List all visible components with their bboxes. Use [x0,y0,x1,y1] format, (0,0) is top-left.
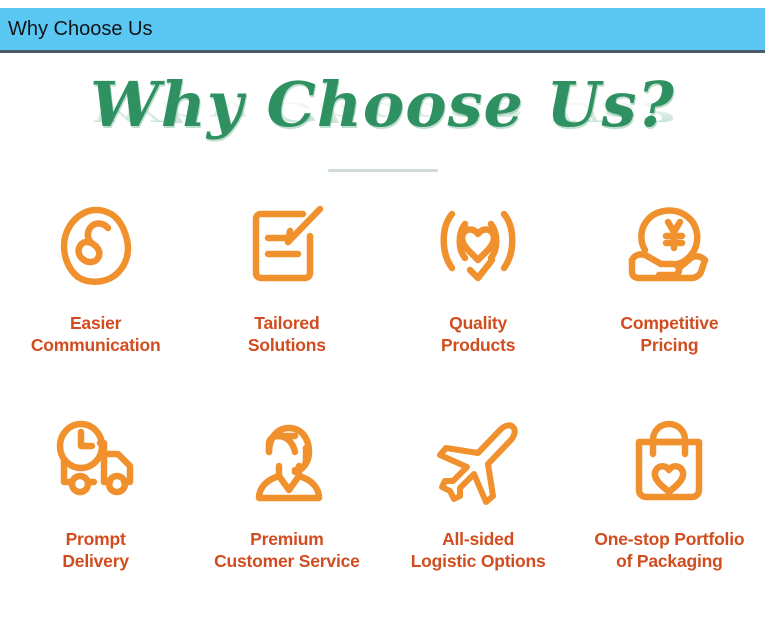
feature-item-one-stop-portfolio-of-packaging[interactable]: One-stop Portfolio of Packaging [574,402,765,618]
page-content: Why Choose Us? Why Choose Us? Easier Com… [0,56,765,599]
feature-label: Easier Communication [31,312,161,356]
feature-row: Prompt Delivery Premium Customer [0,402,765,618]
feature-label: One-stop Portfolio of Packaging [594,528,744,572]
feature-item-all-sided-logistic-options[interactable]: All-sided Logistic Options [383,402,574,618]
feature-label: Tailored Solutions [248,312,326,356]
feature-item-quality-products[interactable]: Quality Products [383,186,574,402]
page-title: Why Choose Us? [0,66,765,144]
feature-row: Easier Communication Tailored Solutions [0,186,765,402]
feature-item-tailored-solutions[interactable]: Tailored Solutions [191,186,382,402]
window-titlebar: Why Choose Us [0,8,765,53]
feature-label: All-sided Logistic Options [411,528,546,572]
hand-yen-coin-icon [617,194,721,298]
feature-label: Premium Customer Service [214,528,360,572]
ear-listening-icon [44,194,148,298]
feature-label: Prompt Delivery [62,528,129,572]
feature-label: Competitive Pricing [620,312,718,356]
feature-item-easier-communication[interactable]: Easier Communication [0,186,191,402]
headset-person-icon [235,410,339,514]
shopping-bag-heart-icon [617,410,721,514]
window-title: Why Choose Us [0,19,153,39]
feature-grid: Easier Communication Tailored Solutions [0,186,765,618]
delivery-truck-clock-icon [44,410,148,514]
feature-item-prompt-delivery[interactable]: Prompt Delivery [0,402,191,618]
feature-label: Quality Products [441,312,515,356]
heart-signal-check-icon [426,194,530,298]
feature-item-premium-customer-service[interactable]: Premium Customer Service [191,402,382,618]
hero-banner: Why Choose Us? Why Choose Us? [0,66,765,161]
title-divider [328,169,438,172]
airplane-icon [426,410,530,514]
document-pencil-icon [235,194,339,298]
feature-item-competitive-pricing[interactable]: Competitive Pricing [574,186,765,402]
